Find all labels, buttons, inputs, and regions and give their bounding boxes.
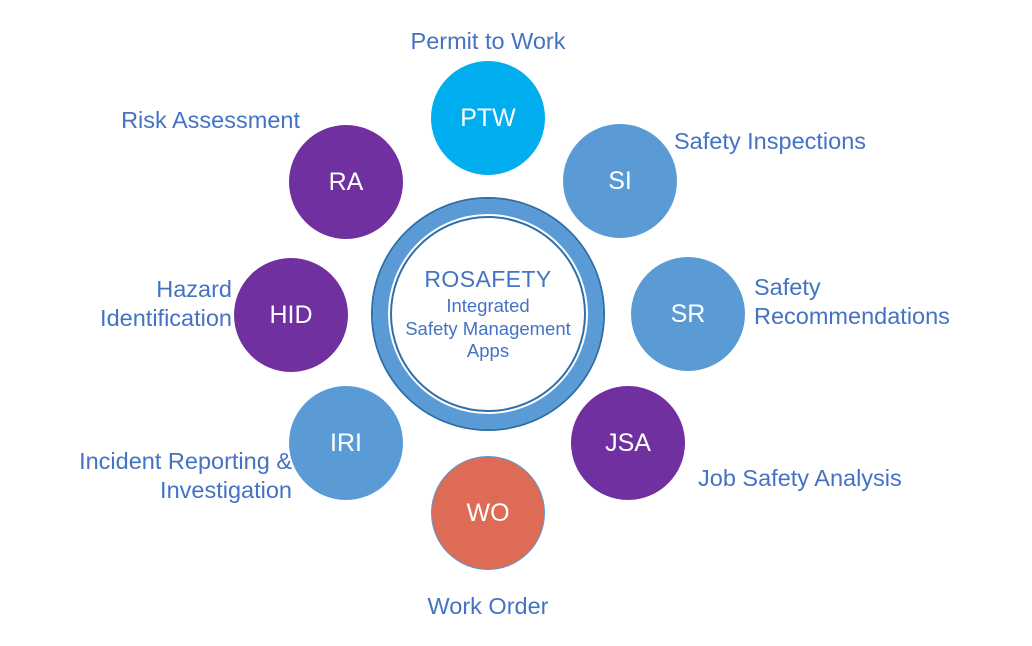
node-label-si: Safety Inspections (674, 127, 904, 156)
node-abbr-ptw: PTW (460, 104, 516, 133)
node-label-wo: Work Order (388, 592, 588, 621)
center-hub[interactable]: ROSAFETY Integrated Safety Management Ap… (371, 197, 605, 431)
node-circle-iri[interactable]: IRI (289, 386, 403, 500)
node-abbr-wo: WO (466, 499, 509, 528)
node-abbr-si: SI (608, 167, 632, 196)
node-circle-ra[interactable]: RA (289, 125, 403, 239)
node-abbr-iri: IRI (330, 429, 362, 458)
node-abbr-sr: SR (671, 300, 706, 329)
node-circle-sr[interactable]: SR (631, 257, 745, 371)
node-label-jsa: Job Safety Analysis (698, 464, 948, 493)
node-circle-ptw[interactable]: PTW (431, 61, 545, 175)
node-abbr-hid: HID (269, 301, 312, 330)
node-circle-wo[interactable]: WO (431, 456, 545, 570)
node-abbr-jsa: JSA (605, 429, 651, 458)
node-circle-si[interactable]: SI (563, 124, 677, 238)
node-label-iri: Incident Reporting & Investigation (20, 447, 292, 505)
node-circle-jsa[interactable]: JSA (571, 386, 685, 500)
diagram-canvas: PTW SI SR JSA WO IRI HID RA ROSAFETY Int… (0, 0, 1032, 646)
node-abbr-ra: RA (329, 168, 364, 197)
node-circle-hid[interactable]: HID (234, 258, 348, 372)
node-label-sr: Safety Recommendations (754, 273, 1004, 331)
node-label-ptw: Permit to Work (388, 27, 588, 56)
node-label-ra: Risk Assessment (60, 106, 300, 135)
hub-inner-ring (390, 216, 586, 412)
node-label-hid: Hazard Identification (20, 275, 232, 333)
